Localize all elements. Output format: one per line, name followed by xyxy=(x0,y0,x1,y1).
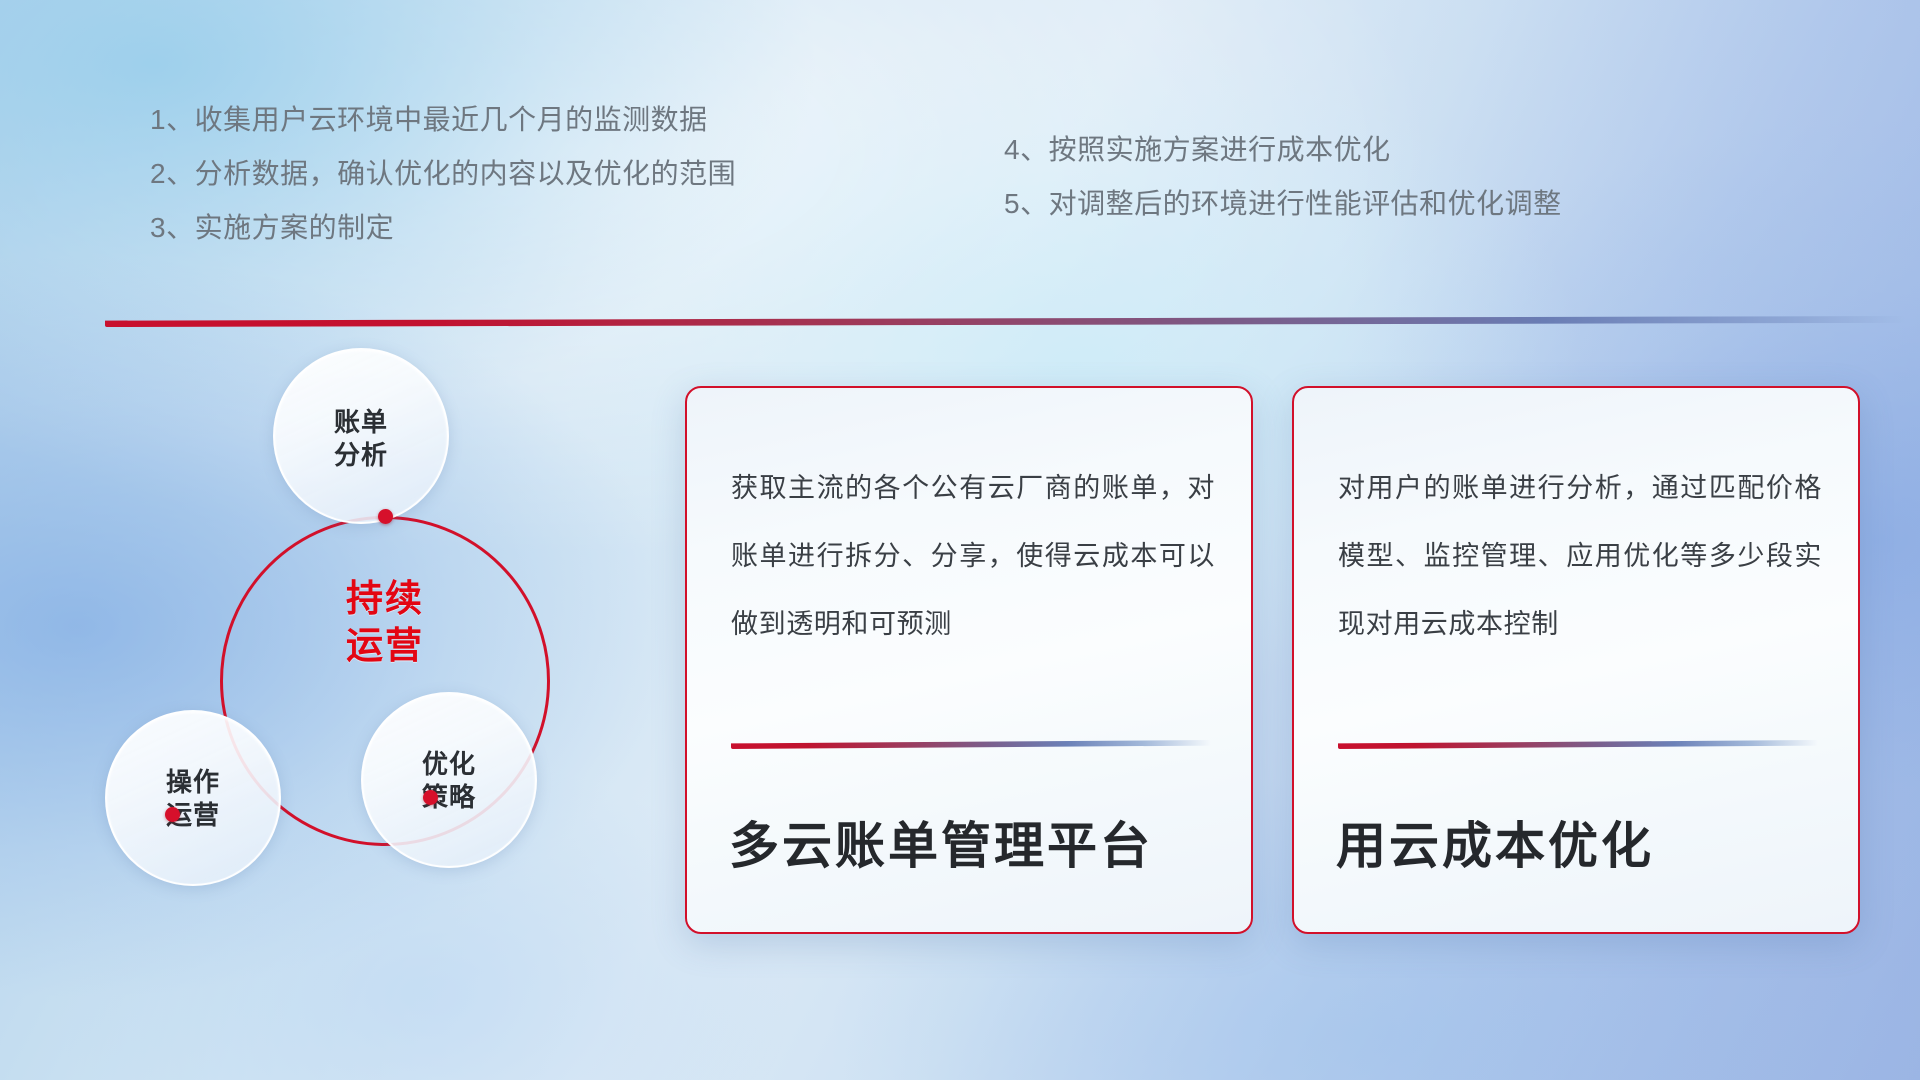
card-multi-cloud-billing[interactable]: 获取主流的各个公有云厂商的账单，对账单进行拆分、分享，使得云成本可以做到透明和可… xyxy=(685,386,1253,934)
card-body-text: 获取主流的各个公有云厂商的账单，对账单进行拆分、分享，使得云成本可以做到透明和可… xyxy=(731,454,1215,658)
venn-center-label: 持续 运营 xyxy=(220,576,550,669)
venn-bubble-label: 优化 策略 xyxy=(363,694,535,866)
venn-center-label-line2: 运营 xyxy=(220,623,550,670)
venn-node-right-dot xyxy=(423,790,438,805)
venn-bubble-optimization-strategy[interactable]: 优化 策略 xyxy=(361,692,537,868)
venn-node-left-dot xyxy=(165,807,180,822)
venn-bubble-top-line2: 分析 xyxy=(334,439,388,472)
steps-section: 1、收集用户云环境中最近几个月的监测数据 2、分析数据，确认优化的内容以及优化的… xyxy=(0,0,1920,250)
card-divider xyxy=(731,740,1211,749)
step-item-4: 4、按照实施方案进行成本优化 xyxy=(1004,128,1391,168)
step-item-1: 1、收集用户云环境中最近几个月的监测数据 xyxy=(150,98,708,138)
venn-node-top-dot xyxy=(378,509,393,524)
venn-center-label-line1: 持续 xyxy=(220,576,550,623)
venn-bubble-billing-analysis[interactable]: 账单 分析 xyxy=(273,348,449,524)
section-divider-bar xyxy=(105,316,1905,327)
card-cloud-cost-optimization[interactable]: 对用户的账单进行分析，通过匹配价格模型、监控管理、应用优化等多少段实现对用云成本… xyxy=(1292,386,1860,934)
venn-bubble-left-line1: 操作 xyxy=(166,766,220,799)
step-item-2: 2、分析数据，确认优化的内容以及优化的范围 xyxy=(150,152,736,192)
step-item-3: 3、实施方案的制定 xyxy=(150,206,394,246)
venn-bubble-label: 账单 分析 xyxy=(275,350,447,522)
venn-bubble-operations[interactable]: 操作 运营 xyxy=(105,710,281,886)
venn-bubble-top-line1: 账单 xyxy=(334,406,388,439)
step-item-5: 5、对调整后的环境进行性能评估和优化调整 xyxy=(1004,182,1562,222)
venn-bubble-label: 操作 运营 xyxy=(107,712,279,884)
card-title-text: 用云成本优化 xyxy=(1336,806,1828,878)
venn-bubble-right-line1: 优化 xyxy=(422,748,476,781)
card-title-text: 多云账单管理平台 xyxy=(729,806,1221,878)
card-body-text: 对用户的账单进行分析，通过匹配价格模型、监控管理、应用优化等多少段实现对用云成本… xyxy=(1338,454,1822,658)
venn-diagram: 持续 运营 账单 分析 操作 运营 优化 策略 xyxy=(95,348,655,948)
section-divider xyxy=(105,316,1905,327)
card-divider xyxy=(1338,740,1818,749)
